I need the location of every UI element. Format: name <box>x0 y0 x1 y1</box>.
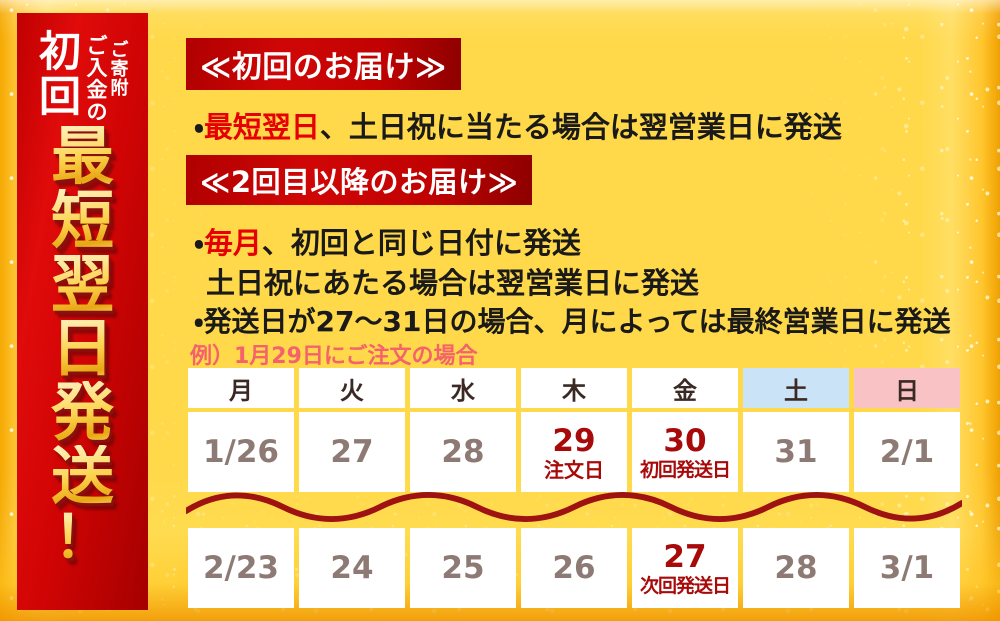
headline-char-6: 送 <box>17 445 148 508</box>
calendar-day-cell: 30初回発送日 <box>632 412 738 492</box>
bullet-marker: ・ <box>194 226 204 260</box>
subsequent-delivery-note-2: 土日祝にあたる場合は翌営業日に発送 <box>206 260 699 302</box>
badge-first-delivery: ≪初回のお届け≫ <box>186 38 461 90</box>
calendar-header-label: 水 <box>451 371 475 406</box>
calendar-header-cell-weekday-3: 木 <box>521 368 627 408</box>
headline-char-4: 日 <box>17 317 148 380</box>
content-column: ≪初回のお届け≫ ・最短翌日、土日祝に当たる場合は翌営業日に発送 ≪2回目以降の… <box>186 0 986 621</box>
calendar-day-cell: 2/1 <box>854 412 960 492</box>
calendar-day-number: 28 <box>774 551 817 585</box>
headline-char-5: 発 <box>17 381 148 444</box>
calendar-day-number: 31 <box>774 435 817 469</box>
calendar-day-number: 3/1 <box>880 551 934 585</box>
subsequent-delivery-note-1: ・毎月、初回と同じ日付に発送 <box>194 220 581 262</box>
calendar-day-number: 25 <box>441 551 484 585</box>
calendar-header-label: 日 <box>895 371 919 406</box>
banner-kicker-group: 初回 ご入金の ご寄附 <box>17 29 148 121</box>
calendar-day-cell: 28 <box>410 412 516 492</box>
calendar-day-number: 27 <box>330 435 373 469</box>
badge-subsequent-delivery: ≪2回目以降のお届け≫ <box>186 155 532 205</box>
calendar-day-number: 29 <box>552 424 595 458</box>
calendar-day-cell: 25 <box>410 528 516 608</box>
calendar-header-label: 土 <box>784 371 808 406</box>
wavy-divider-icon <box>186 487 962 523</box>
kicker-outer-text: ご寄附 <box>109 41 130 98</box>
calendar-day-cell: 28 <box>743 528 849 608</box>
calendar-day-cell: 27 <box>299 412 405 492</box>
banner-headline: 最 短 翌 日 発 送 ！ <box>17 125 148 566</box>
first-delivery-rest: 、土日祝に当たる場合は翌営業日に発送 <box>320 110 842 144</box>
calendar-day-cell: 24 <box>299 528 405 608</box>
calendar-day-number: 26 <box>552 551 595 585</box>
calendar-day-tag: 次回発送日 <box>640 575 730 597</box>
calendar-day-number: 2/1 <box>880 435 934 469</box>
bullet-marker: ・ <box>194 110 204 144</box>
kicker-inner-text: ご入金の <box>85 35 109 123</box>
headline-char-7: ！ <box>17 509 148 565</box>
calendar-day-cell: 1/26 <box>188 412 294 492</box>
calendar-day-number: 30 <box>663 424 706 458</box>
kicker-big-text: 初回 <box>32 29 88 119</box>
headline-char-2: 短 <box>17 189 148 252</box>
calendar-header-label: 木 <box>562 371 586 406</box>
subsequent-delivery-rest: 、初回と同じ日付に発送 <box>262 226 581 260</box>
calendar-day-cell: 27次回発送日 <box>632 528 738 608</box>
promo-banner: 初回 ご入金の ご寄附 最 短 翌 日 発 送 ！ ≪初回のお届け≫ ・最短翌日… <box>0 0 1000 621</box>
calendar-day-cell: 31 <box>743 412 849 492</box>
example-label: 例）1月29日にご注文の場合 <box>190 338 477 370</box>
calendar-header-row: 月火水木金土日 <box>188 368 960 408</box>
calendar-header-cell-weekday-4: 金 <box>632 368 738 408</box>
calendar-header-cell-sunday-6: 日 <box>854 368 960 408</box>
calendar-day-number: 1/26 <box>203 435 279 469</box>
calendar-header-cell-saturday-5: 土 <box>743 368 849 408</box>
calendar-day-number: 24 <box>330 551 373 585</box>
calendar-day-cell: 26 <box>521 528 627 608</box>
subsequent-delivery-highlight: 毎月 <box>204 226 262 260</box>
calendar-header-cell-weekday-1: 火 <box>299 368 405 408</box>
calendar-header-label: 月 <box>229 371 253 406</box>
calendar-header-cell-weekday-2: 水 <box>410 368 516 408</box>
calendar-header-cell-weekday-0: 月 <box>188 368 294 408</box>
calendar-day-number: 27 <box>663 540 706 574</box>
calendar-day-number: 2/23 <box>203 551 279 585</box>
calendar-day-tag: 注文日 <box>544 459 604 481</box>
calendar-day-number: 28 <box>441 435 484 469</box>
headline-char-3: 翌 <box>17 253 148 316</box>
calendar-header-label: 火 <box>340 371 364 406</box>
calendar-day-tag: 初回発送日 <box>640 459 730 481</box>
calendar-header-label: 金 <box>673 371 697 406</box>
left-red-banner: 初回 ご入金の ご寄附 最 短 翌 日 発 送 ！ <box>17 13 148 610</box>
calendar-week-row-2: 2/2324252627次回発送日283/1 <box>188 528 960 608</box>
calendar-day-cell: 3/1 <box>854 528 960 608</box>
calendar-day-cell: 2/23 <box>188 528 294 608</box>
first-delivery-note: ・最短翌日、土日祝に当たる場合は翌営業日に発送 <box>194 104 842 146</box>
calendar-week-row-1: 1/26272829注文日30初回発送日312/1 <box>188 412 960 492</box>
calendar-day-cell: 29注文日 <box>521 412 627 492</box>
first-delivery-highlight: 最短翌日 <box>204 110 320 144</box>
headline-char-1: 最 <box>17 125 148 188</box>
subsequent-delivery-note-3: ・発送日が27〜31日の場合、月によっては最終営業日に発送 <box>194 300 951 340</box>
